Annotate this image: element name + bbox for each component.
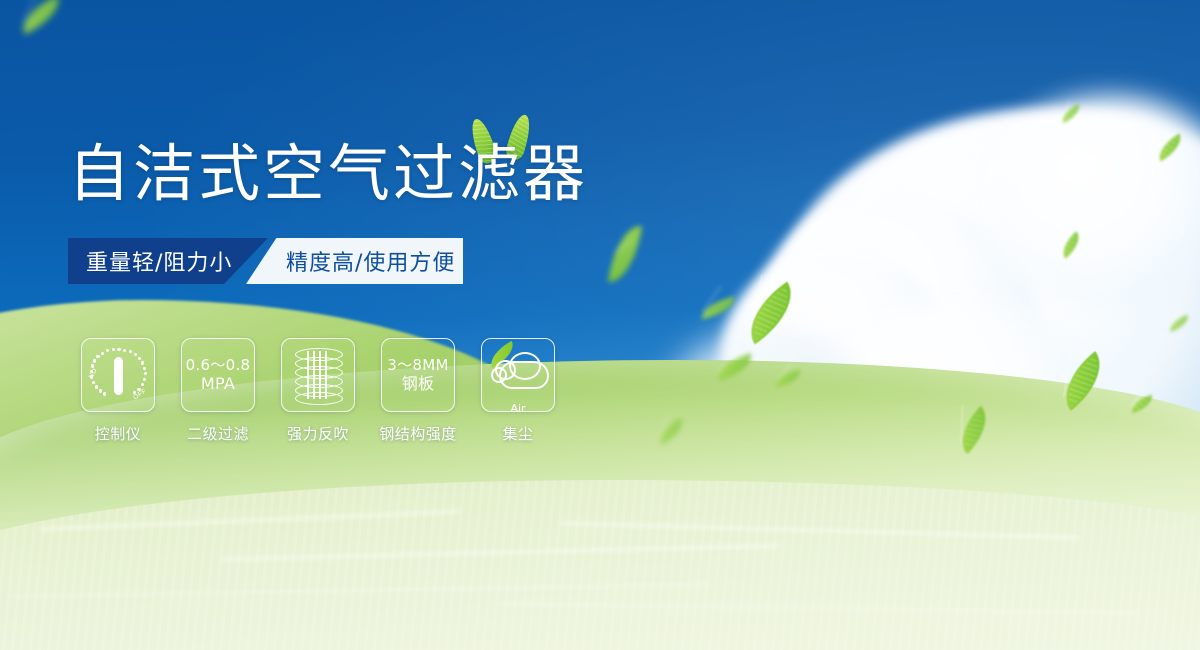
plate-text-icon: 3～8MM 钢板 xyxy=(387,356,448,394)
dial-on-label: NO xyxy=(88,367,99,380)
feature-label: 钢结构强度 xyxy=(379,423,457,444)
feature-label: 二级过滤 xyxy=(187,423,249,444)
cloud-shape xyxy=(980,96,1200,306)
floating-leaf xyxy=(1059,104,1084,124)
feature-icon-box xyxy=(281,338,355,412)
subtitle-left-text: 重量轻/阻力小 xyxy=(86,245,232,277)
pressure-text-icon: 0.6～0.8 MPA xyxy=(186,356,251,394)
plate-thickness: 3～8MM xyxy=(387,356,448,374)
floating-leaf xyxy=(1057,231,1086,258)
feature-item-steel-strength[interactable]: 3～8MM 钢板 钢结构强度 xyxy=(368,338,468,444)
pressure-range: 0.6～0.8 xyxy=(186,356,251,374)
subtitle-segment-right: 精度高/使用方便 xyxy=(246,238,463,284)
feature-item-strong-blowback[interactable]: 强力反吹 xyxy=(268,338,368,444)
subtitle-right-text: 精度高/使用方便 xyxy=(286,245,455,277)
feature-icon-box: 3～8MM 钢板 xyxy=(381,338,455,412)
feature-label: 强力反吹 xyxy=(287,423,349,444)
air-label: Air xyxy=(489,402,547,415)
dial-icon: NO OFF xyxy=(89,346,147,404)
floating-leaf xyxy=(16,0,67,34)
floating-leaf xyxy=(608,222,642,285)
page-title: 自洁式空气过滤器 xyxy=(68,143,588,205)
coil-filter-icon xyxy=(295,348,341,402)
feature-label: 集尘 xyxy=(502,423,533,444)
air-cloud-icon: Air xyxy=(489,351,547,399)
floating-leaf xyxy=(1153,134,1186,162)
floating-leaf xyxy=(699,296,738,319)
dial-off-label: OFF xyxy=(132,388,148,402)
subtitle-ribbon: 重量轻/阻力小 精度高/使用方便 xyxy=(68,238,463,284)
feature-icon-box: Air xyxy=(481,338,555,412)
feature-item-control-meter[interactable]: NO OFF 控制仪 xyxy=(68,338,168,444)
feature-icon-box: NO OFF xyxy=(81,338,155,412)
floating-leaf xyxy=(736,282,806,345)
feature-icon-box: 0.6～0.8 MPA xyxy=(181,338,255,412)
foreground-grass xyxy=(0,480,1200,650)
floating-leaf xyxy=(1167,315,1191,333)
feature-item-two-stage-filter[interactable]: 0.6～0.8 MPA 二级过滤 xyxy=(168,338,268,444)
feature-item-dust-collection[interactable]: Air 集尘 xyxy=(468,338,568,444)
hero-banner: 自洁式空气过滤器 重量轻/阻力小 精度高/使用方便 xyxy=(0,0,1200,650)
feature-label: 控制仪 xyxy=(95,423,142,444)
subtitle-segment-left: 重量轻/阻力小 xyxy=(68,238,268,284)
cloud-body xyxy=(499,361,549,389)
pressure-unit: MPA xyxy=(186,374,251,394)
plate-material: 钢板 xyxy=(387,374,448,394)
dial-needle xyxy=(114,357,123,395)
feature-list: NO OFF 控制仪 0.6～0.8 MPA 二级过滤 xyxy=(68,338,568,444)
